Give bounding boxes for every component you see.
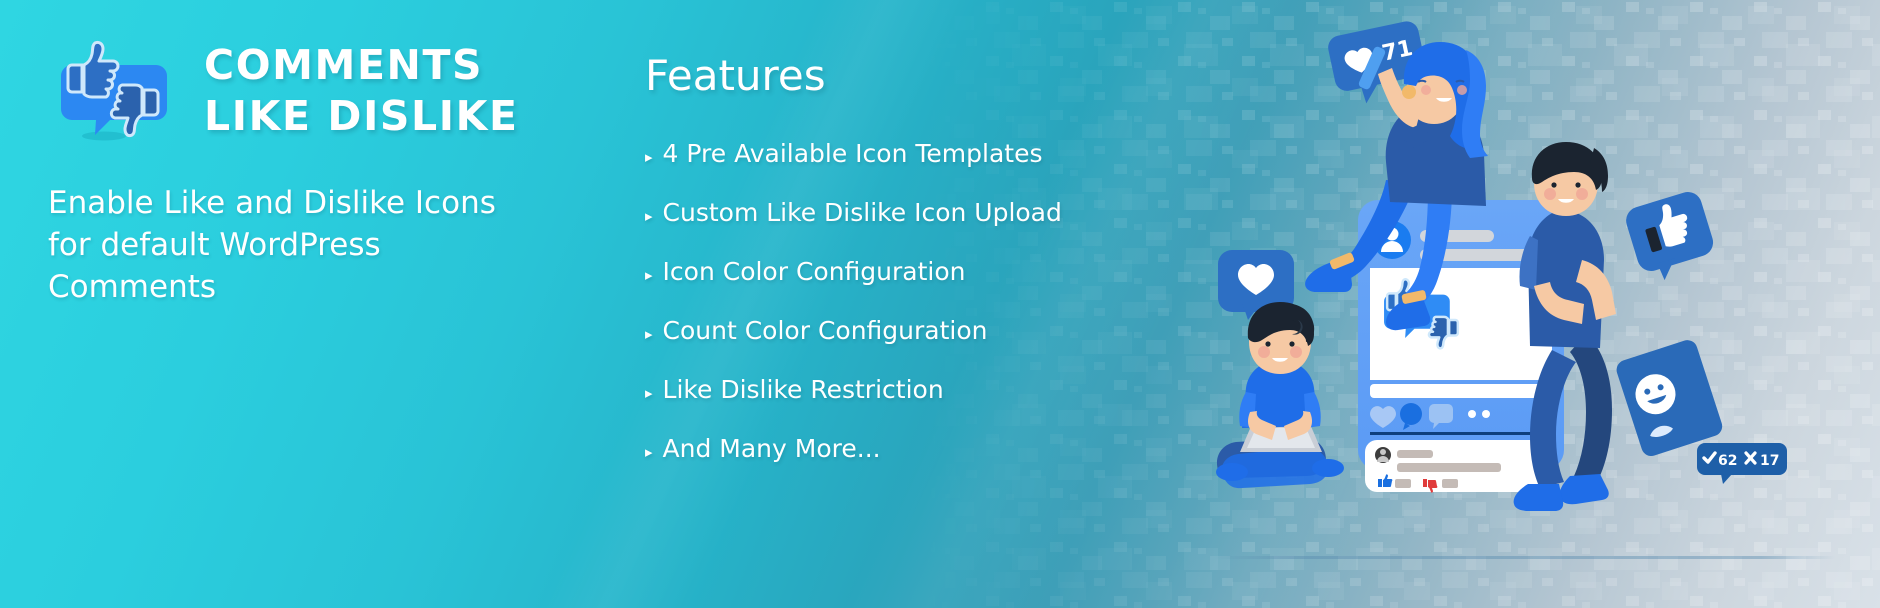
brand-title-line-1: COMMENTS xyxy=(204,40,519,91)
feature-label: Icon Color Configuration xyxy=(663,244,966,300)
plugin-banner: COMMENTS LIKE DISLIKE Enable Like and Di… xyxy=(0,0,1880,608)
features-heading: Features xyxy=(645,50,1115,102)
list-item: ▸ 4 Pre Available Icon Templates xyxy=(645,126,1115,185)
list-item: ▸ Like Dislike Restriction xyxy=(645,362,1115,421)
triangle-bullet-icon: ▸ xyxy=(645,365,653,421)
triangle-bullet-icon: ▸ xyxy=(645,129,653,185)
feature-label: 4 Pre Available Icon Templates xyxy=(663,126,1043,182)
thumbs-up-bubble xyxy=(1623,189,1720,286)
triangle-bullet-icon: ▸ xyxy=(645,424,653,480)
logo-row: COMMENTS LIKE DISLIKE xyxy=(48,30,568,152)
list-item: ▸ Icon Color Configuration xyxy=(645,244,1115,303)
boy-with-laptop xyxy=(1216,302,1344,488)
features-list: ▸ 4 Pre Available Icon Templates ▸ Custo… xyxy=(645,126,1115,480)
smiley-card xyxy=(1614,338,1725,459)
share-bubble-icon xyxy=(1429,404,1453,423)
thumbs-up-speech-bubble-thumbs-down-icon xyxy=(48,35,180,147)
feature-label: And Many More... xyxy=(663,421,881,477)
illustration: 71 62 xyxy=(1180,0,1880,608)
vote-badge: 62 17 xyxy=(1697,443,1787,484)
features-block: Features ▸ 4 Pre Available Icon Template… xyxy=(645,50,1115,480)
feature-label: Like Dislike Restriction xyxy=(663,362,944,418)
brand-block: COMMENTS LIKE DISLIKE Enable Like and Di… xyxy=(48,30,568,308)
brand-titles: COMMENTS LIKE DISLIKE xyxy=(198,40,519,142)
triangle-bullet-icon: ▸ xyxy=(645,247,653,303)
comment-bubble-icon xyxy=(1400,403,1422,425)
list-item: ▸ And Many More... xyxy=(645,421,1115,480)
brand-subtitle: Enable Like and Dislike Icons for defaul… xyxy=(48,182,518,308)
feature-label: Custom Like Dislike Icon Upload xyxy=(663,185,1062,241)
triangle-bullet-icon: ▸ xyxy=(645,306,653,362)
comment-card xyxy=(1365,440,1545,493)
list-item: ▸ Custom Like Dislike Icon Upload xyxy=(645,185,1115,244)
list-item: ▸ Count Color Configuration xyxy=(645,303,1115,362)
vote-dislike-count: 17 xyxy=(1760,453,1779,469)
feature-label: Count Color Configuration xyxy=(663,303,988,359)
brand-title-line-2: LIKE DISLIKE xyxy=(204,91,519,142)
triangle-bullet-icon: ▸ xyxy=(645,188,653,244)
vote-like-count: 62 xyxy=(1718,453,1737,469)
